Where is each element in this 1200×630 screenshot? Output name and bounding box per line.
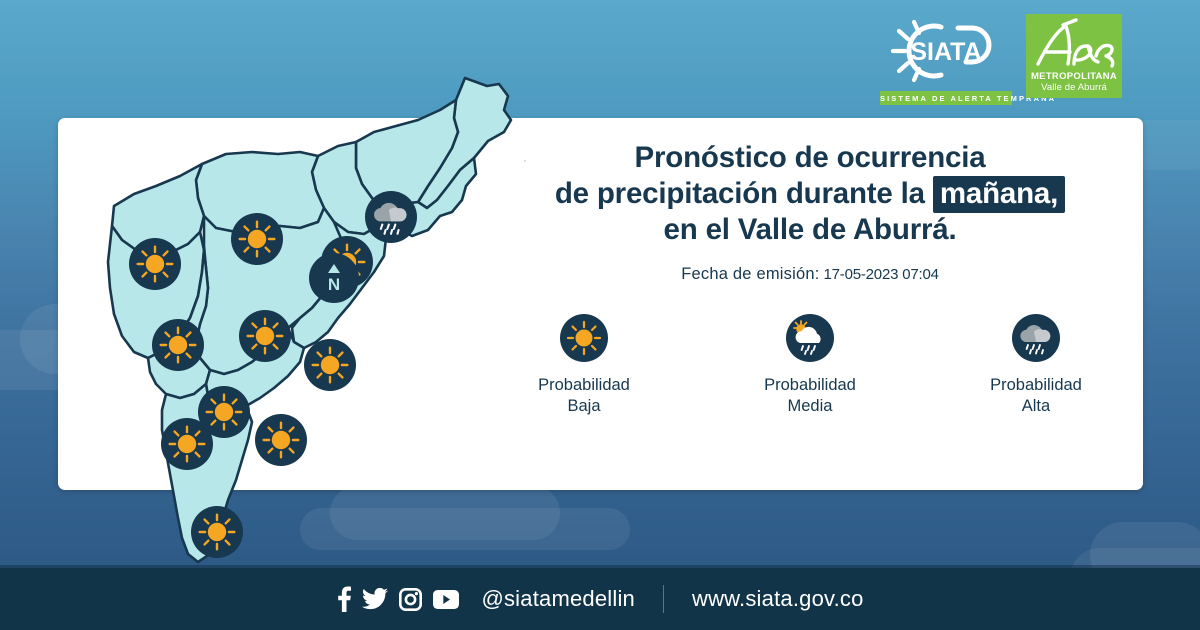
legend-label-media-line2: Media xyxy=(764,396,856,417)
legend-label-media: Probabilidad Media xyxy=(764,375,856,417)
compass-icon: N xyxy=(309,253,359,303)
facebook-icon[interactable] xyxy=(336,586,351,612)
legend-label-alta-line1: Probabilidad xyxy=(990,375,1082,396)
legend-item-media: Probabilidad Media xyxy=(736,314,884,417)
marker-caldas[interactable] xyxy=(191,506,243,558)
sun-icon xyxy=(191,506,243,558)
sun-icon xyxy=(255,414,307,466)
area-logo-line2: Valle de Aburrá xyxy=(1041,82,1107,93)
cloud-rain-icon xyxy=(1012,314,1060,362)
legend-label-alta-line2: Alta xyxy=(990,396,1082,417)
compass-label: N xyxy=(328,275,340,294)
emission-value: 17-05-2023 07:04 xyxy=(824,266,939,283)
website-url[interactable]: www.siata.gov.co xyxy=(692,586,864,612)
compass-north-indicator: N xyxy=(309,253,359,303)
footer-separator xyxy=(663,585,664,613)
marker-san-jeronimo[interactable] xyxy=(152,319,204,371)
page-title: Pronóstico de ocurrencia de precipitació… xyxy=(470,140,1150,248)
sun-icon xyxy=(560,314,608,362)
sun-icon xyxy=(152,319,204,371)
siata-wordmark: SIATA xyxy=(910,38,981,66)
area-script-icon xyxy=(1026,18,1122,72)
marker-bello[interactable] xyxy=(231,213,283,265)
youtube-icon[interactable] xyxy=(433,590,459,609)
map-regions xyxy=(56,40,526,570)
title-line-2-text: de precipitación durante la xyxy=(555,177,933,210)
logo-group: SIATA SISTEMA DE ALERTA TEMPRANA METROPO… xyxy=(880,14,1122,105)
legend-item-baja: Probabilidad Baja xyxy=(510,314,658,417)
footer-bar: @siatamedellin www.siata.gov.co xyxy=(0,568,1200,630)
legend-label-alta: Probabilidad Alta xyxy=(990,375,1082,417)
marker-medellin[interactable] xyxy=(239,310,291,362)
sun-icon xyxy=(129,238,181,290)
sun-cloud-rain-icon xyxy=(786,314,834,362)
aburra-valley-map: N xyxy=(56,40,526,570)
sun-icon xyxy=(239,310,291,362)
twitter-icon[interactable] xyxy=(362,588,388,610)
title-line-2: de precipitación durante la mañana, xyxy=(470,176,1150,212)
legend-item-alta: Probabilidad Alta xyxy=(962,314,1110,417)
legend-label-media-line1: Probabilidad xyxy=(764,375,856,396)
probability-legend: Probabilidad Baja xyxy=(470,314,1150,417)
marker-san-pedro[interactable] xyxy=(129,238,181,290)
instagram-icon[interactable] xyxy=(399,588,422,611)
social-links xyxy=(336,586,459,612)
social-handle[interactable]: @siatamedellin xyxy=(481,586,635,612)
area-logo-line1: METROPOLITANA xyxy=(1031,71,1117,82)
legend-label-baja: Probabilidad Baja xyxy=(538,375,630,417)
siata-logo-mark: SIATA xyxy=(880,14,1012,88)
siata-logo: SIATA SISTEMA DE ALERTA TEMPRANA xyxy=(880,14,1012,105)
sun-cloud-logo-icon: SIATA xyxy=(880,14,1012,88)
marker-envigado[interactable] xyxy=(304,339,356,391)
marker-la-estrella[interactable] xyxy=(161,418,213,470)
legend-label-baja-line2: Baja xyxy=(538,396,630,417)
emission-label: Fecha de emisión: xyxy=(681,265,819,283)
sun-icon xyxy=(161,418,213,470)
sun-icon xyxy=(231,213,283,265)
sun-icon xyxy=(304,339,356,391)
emission-date: Fecha de emisión:17-05-2023 07:04 xyxy=(470,265,1150,284)
area-metropolitana-logo: METROPOLITANA Valle de Aburrá xyxy=(1026,14,1122,98)
title-line-1: Pronóstico de ocurrencia xyxy=(470,140,1150,176)
forecast-content: Pronóstico de ocurrencia de precipitació… xyxy=(470,140,1150,417)
title-highlight-manana: mañana, xyxy=(933,176,1065,213)
siata-tagline: SISTEMA DE ALERTA TEMPRANA xyxy=(880,91,1012,105)
legend-label-baja-line1: Probabilidad xyxy=(538,375,630,396)
marker-sabaneta[interactable] xyxy=(255,414,307,466)
title-line-3: en el Valle de Aburrá. xyxy=(470,212,1150,248)
